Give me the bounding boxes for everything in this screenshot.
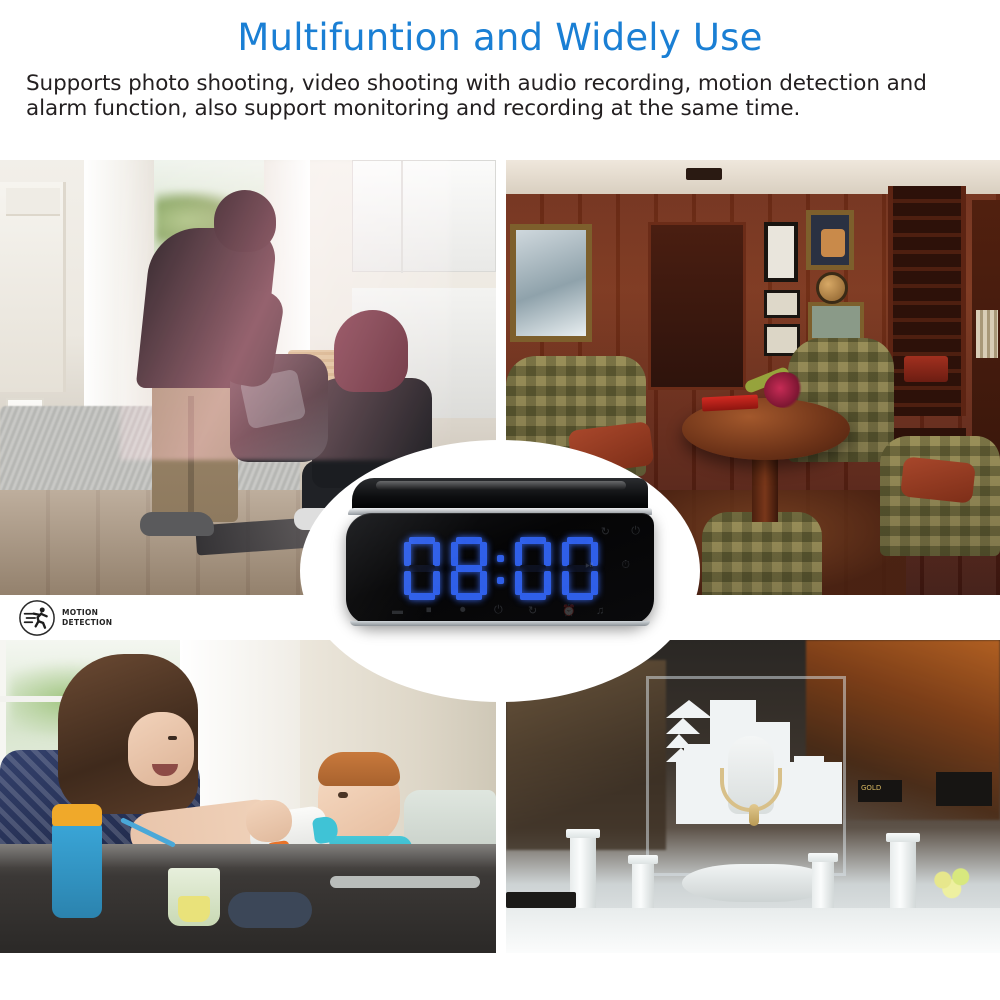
books: [976, 310, 998, 358]
display-podium: [682, 864, 832, 902]
touch-button-icon-4[interactable]: ⏱: [621, 559, 630, 572]
led-digit-1: [402, 537, 442, 601]
baby-toy: [228, 892, 312, 928]
badge-line-2: DETECTION: [62, 618, 112, 628]
led-digit-4: [560, 537, 600, 601]
led-digit-3: [513, 537, 553, 601]
alarm-clock-camera: ↻ ⏻ ⏯ ⏱ ▬ ⏹ ⏺ ⏻ ↻ ⏰ ♫: [340, 478, 660, 628]
food-cup: [168, 868, 220, 926]
touch-button-icon-1[interactable]: ↻: [601, 525, 610, 538]
table-pedestal: [752, 452, 778, 522]
red-box: [904, 356, 948, 382]
red-book: [702, 395, 759, 412]
flower-arrangement: [764, 372, 804, 408]
badge-line-1: MOTION: [62, 608, 112, 618]
touch-button-icon-10[interactable]: ⏰: [562, 604, 576, 617]
touch-button-icon-8[interactable]: ⏻: [494, 604, 503, 617]
shop-logo-sign: [936, 772, 992, 806]
sippy-cup: [52, 822, 102, 918]
touch-button-icon-6[interactable]: ⏹: [426, 604, 432, 617]
running-person-icon: [18, 599, 56, 637]
touch-button-icon-5[interactable]: ▬: [392, 605, 403, 617]
woman-eye: [168, 736, 177, 740]
touch-button-icon-2[interactable]: ⏻: [631, 525, 640, 538]
woman-hand: [246, 800, 292, 842]
device-highlight-overlay: ↻ ⏻ ⏯ ⏱ ▬ ⏹ ⏺ ⏻ ↻ ⏰ ♫: [300, 440, 700, 702]
flower-bouquet: [926, 864, 982, 904]
header: Multifuntion and Widely Use Supports pho…: [0, 0, 1000, 160]
led-digit-2: [449, 537, 489, 601]
display-counter: [506, 908, 1000, 953]
motion-detection-badge-text: MOTION DETECTION: [62, 608, 112, 627]
page-title: Multifuntion and Widely Use: [0, 16, 1000, 59]
page-subtitle: Supports photo shooting, video shooting …: [26, 71, 974, 121]
motion-detection-beam: [120, 160, 450, 460]
cushion-2: [900, 456, 976, 503]
touch-button-icon-3[interactable]: ⏯: [585, 559, 594, 572]
high-chair-tray-bar: [330, 876, 480, 888]
motion-detection-badge: MOTION DETECTION: [18, 598, 110, 638]
clock-base-trim: [350, 621, 650, 626]
jewelry-tray: [506, 892, 576, 908]
touch-button-icon-7[interactable]: ⏺: [460, 604, 466, 617]
baby-hair: [318, 752, 400, 786]
clock-top-surface: [352, 478, 648, 512]
baby-eye: [338, 792, 348, 798]
clock-front-panel: ↻ ⏻ ⏯ ⏱ ▬ ⏹ ⏺ ⏻ ↻ ⏰ ♫: [346, 513, 654, 625]
led-colon: [496, 537, 506, 601]
fireplace: [0, 182, 66, 392]
touch-button-icon-11[interactable]: ♫: [596, 605, 604, 617]
wall-mirror: [510, 224, 592, 342]
plaid-armchair-4: [702, 512, 822, 595]
caption-band-bottom: [0, 953, 1000, 1000]
touch-button-icon-9[interactable]: ↻: [528, 604, 537, 617]
led-time-display: [402, 537, 602, 601]
gold-sign: GOLD: [858, 780, 902, 802]
door: [648, 222, 746, 390]
gold-sign-label: GOLD: [861, 784, 881, 792]
product-feature-page: Multifuntion and Widely Use Supports pho…: [0, 0, 1000, 1000]
